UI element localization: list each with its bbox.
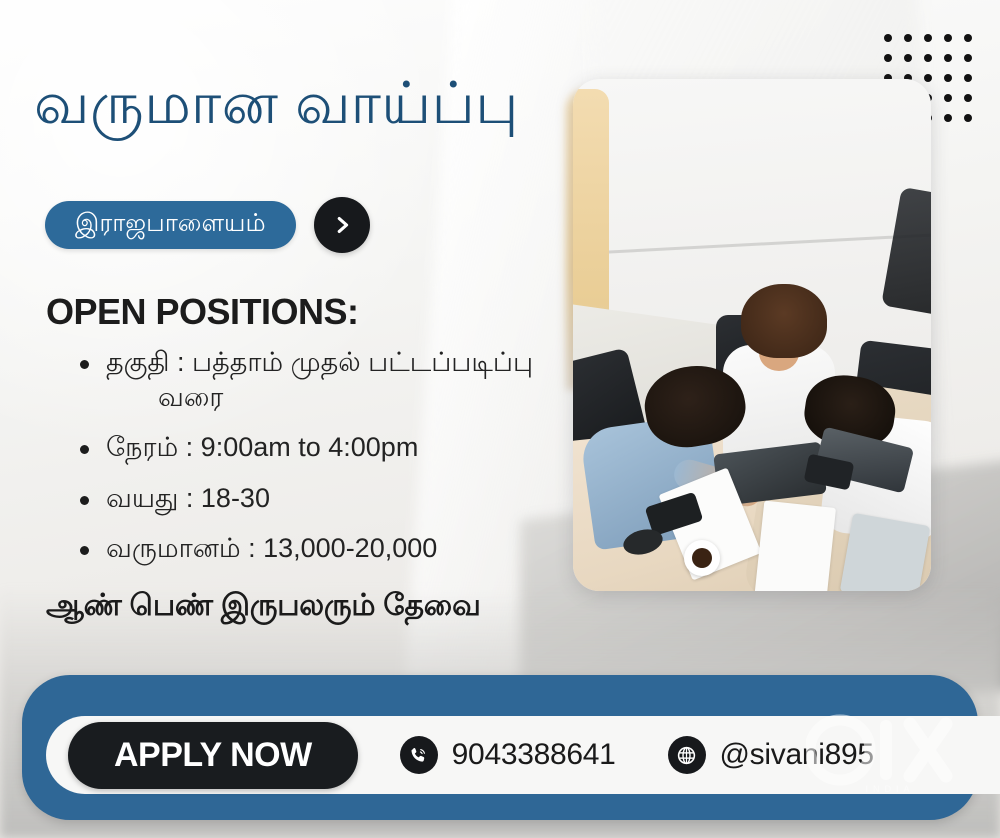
grid-dot — [964, 94, 972, 102]
location-row: இராஜபாளையம் — [45, 197, 370, 253]
grid-dot — [904, 54, 912, 62]
apply-now-button[interactable]: APPLY NOW — [68, 722, 358, 789]
page-title: வருமான வாய்ப்பு — [34, 72, 519, 136]
photo-coffee-cup — [684, 540, 720, 576]
list-item: வயது : 18-30 — [72, 481, 572, 516]
team-photo-card — [573, 79, 931, 591]
grid-dot — [944, 114, 952, 122]
footer-panel: APPLY NOW 9043388641 — [22, 675, 978, 820]
grid-dot — [944, 94, 952, 102]
list-item-text: வயது : 18-30 — [106, 483, 270, 513]
photo-clipboard — [839, 513, 930, 591]
photo-person-center-hair — [741, 284, 827, 358]
contact-bar: APPLY NOW 9043388641 — [46, 716, 1000, 794]
photo-paper — [754, 500, 836, 591]
grid-dot — [964, 114, 972, 122]
open-positions-heading: OPEN POSITIONS: — [46, 291, 359, 333]
list-item-text: நேரம் : 9:00am to 4:00pm — [106, 432, 418, 462]
grid-dot — [964, 34, 972, 42]
list-item-text-cont: வரை — [106, 380, 572, 415]
open-positions-list: தகுதி : பத்தாம் முதல் பட்டப்படிப்பு வரை … — [72, 345, 572, 582]
grid-dot — [884, 54, 892, 62]
list-item: நேரம் : 9:00am to 4:00pm — [72, 430, 572, 465]
list-item: தகுதி : பத்தாம் முதல் பட்டப்படிப்பு வரை — [72, 345, 572, 414]
grid-dot — [884, 34, 892, 42]
globe-icon — [668, 736, 706, 774]
grid-dot — [964, 54, 972, 62]
grid-dot — [944, 74, 952, 82]
location-badge[interactable]: இராஜபாளையம் — [45, 201, 296, 250]
grid-dot — [924, 34, 932, 42]
phone-contact[interactable]: 9043388641 — [400, 736, 616, 774]
list-item-text: தகுதி : பத்தாம் முதல் பட்டப்படிப்பு — [106, 347, 533, 377]
tagline: ஆண் பெண் இருபலரும் தேவை — [46, 589, 481, 627]
list-item: வருமானம் : 13,000-20,000 — [72, 531, 572, 566]
social-contact[interactable]: @sivani895 — [668, 736, 874, 774]
phone-number: 9043388641 — [452, 738, 616, 772]
grid-dot — [964, 74, 972, 82]
phone-icon — [400, 736, 438, 774]
job-advert-poster: வருமான வாய்ப்பு இராஜபாளையம் OPEN POSITIO… — [0, 0, 1000, 838]
chevron-right-icon[interactable] — [314, 197, 370, 253]
grid-dot — [944, 54, 952, 62]
grid-dot — [944, 34, 952, 42]
grid-dot — [924, 54, 932, 62]
social-handle: @sivani895 — [720, 738, 874, 772]
grid-dot — [904, 34, 912, 42]
list-item-text: வருமானம் : 13,000-20,000 — [106, 533, 437, 563]
